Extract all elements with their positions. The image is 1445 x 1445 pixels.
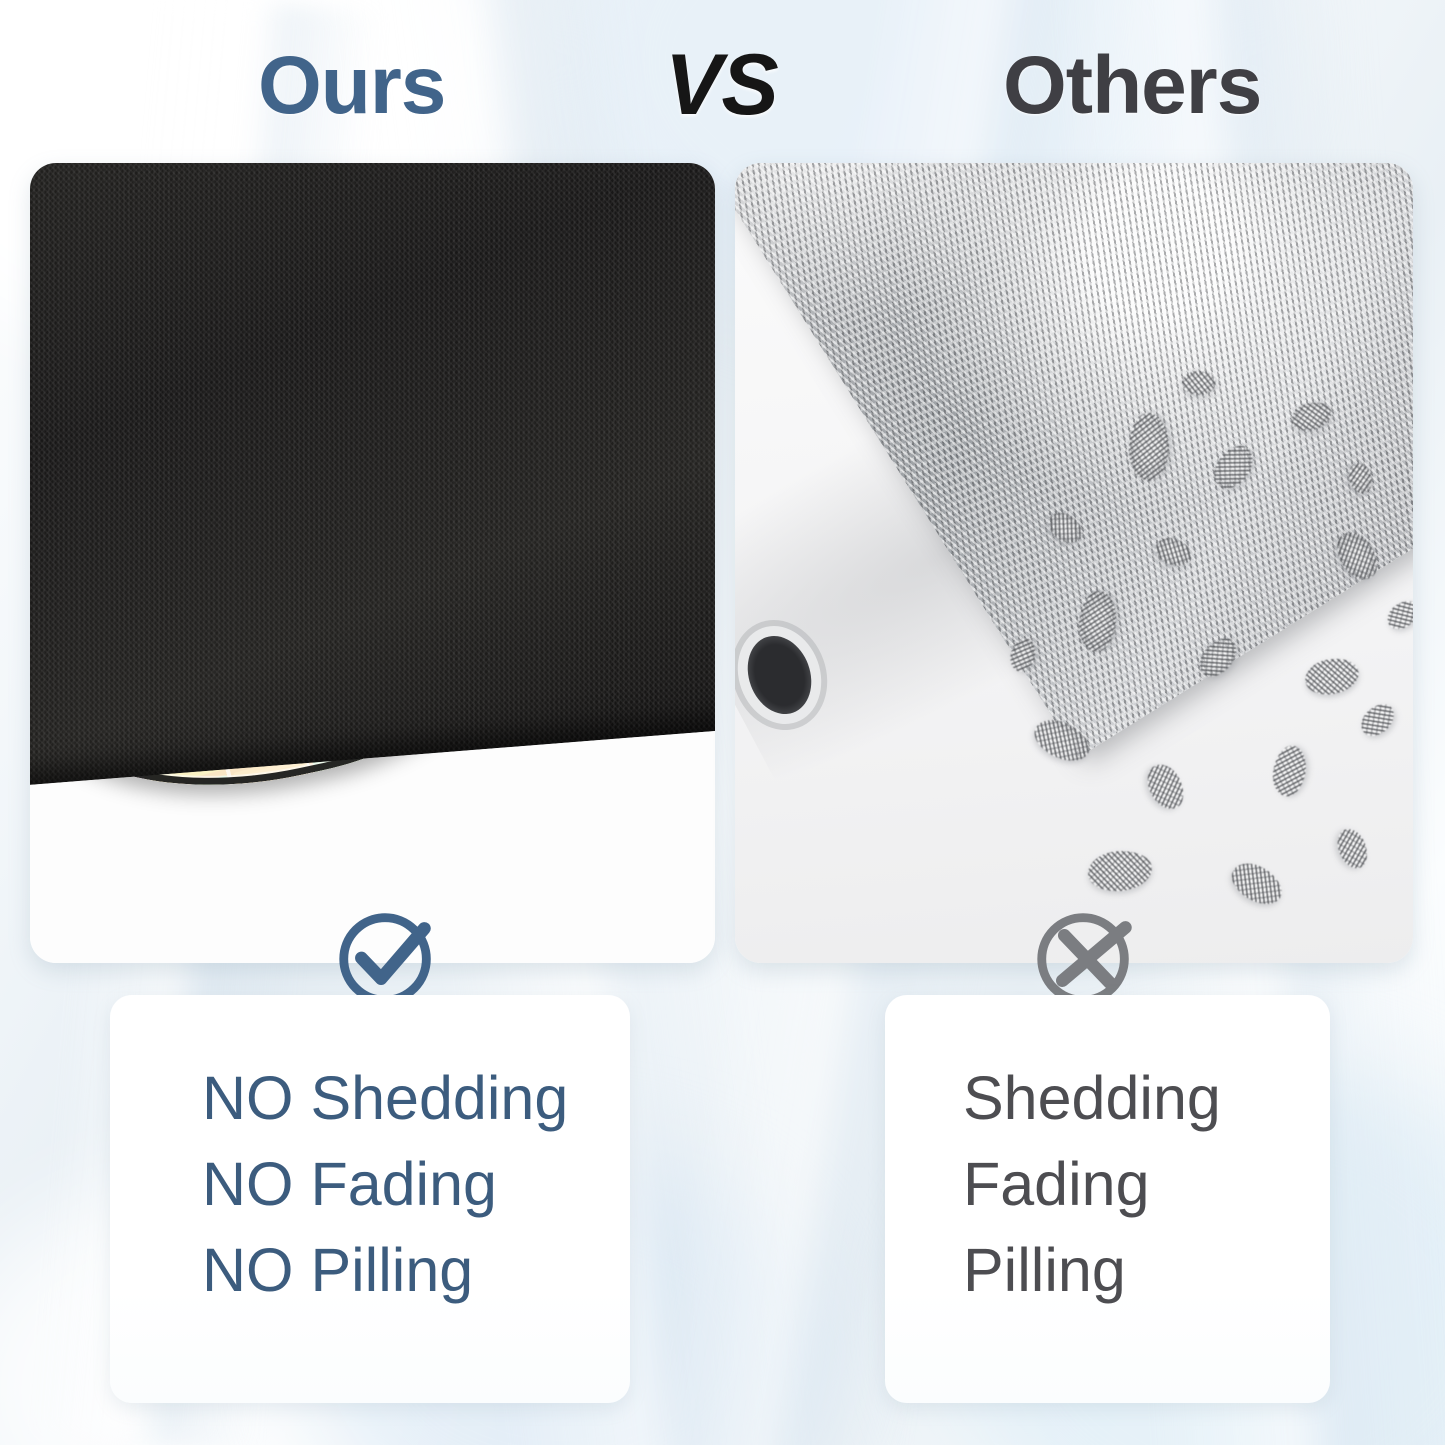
ours-feature-list: NO Shedding NO Fading NO Pilling	[110, 1055, 722, 1313]
others-product-photo-card	[735, 163, 1413, 963]
shed-fiber-clump	[1355, 698, 1400, 742]
others-feature-list: Shedding Fading Pilling	[885, 1055, 1408, 1313]
rug-fringe	[1321, 163, 1413, 299]
list-item: Fading	[963, 1141, 1408, 1227]
shed-fiber-clump	[1140, 759, 1190, 816]
shed-fiber-clump	[1225, 855, 1289, 912]
list-item: Pilling	[963, 1227, 1408, 1313]
shed-fiber-clump	[1086, 848, 1154, 895]
pastel-square	[331, 811, 422, 828]
list-item: Shedding	[963, 1055, 1408, 1141]
list-item: NO Shedding	[202, 1055, 722, 1141]
shed-fiber-clump	[1269, 743, 1309, 799]
ours-product-photo-card	[30, 163, 715, 963]
ours-benefits-card: NO Shedding NO Fading NO Pilling	[110, 995, 630, 1403]
mat-rubber-backing	[30, 163, 715, 787]
header-label-versus: VS	[665, 28, 778, 143]
header-label-ours: Ours	[258, 28, 445, 143]
others-product-photo	[735, 163, 1413, 963]
pastel-square	[486, 770, 549, 828]
shed-fiber-clump	[1302, 654, 1362, 699]
list-item: NO Fading	[202, 1141, 722, 1227]
shed-fiber-clump	[1129, 413, 1169, 481]
others-drawbacks-card: Shedding Fading Pilling	[885, 995, 1330, 1403]
shed-fiber-clump	[1332, 825, 1372, 873]
comparison-header: Ours VS Others	[0, 28, 1445, 143]
shed-fiber-clump	[1382, 595, 1413, 635]
ours-product-photo	[30, 163, 715, 963]
list-item: NO Pilling	[202, 1227, 722, 1313]
pastel-square	[409, 790, 500, 827]
header-label-others: Others	[1003, 28, 1261, 143]
